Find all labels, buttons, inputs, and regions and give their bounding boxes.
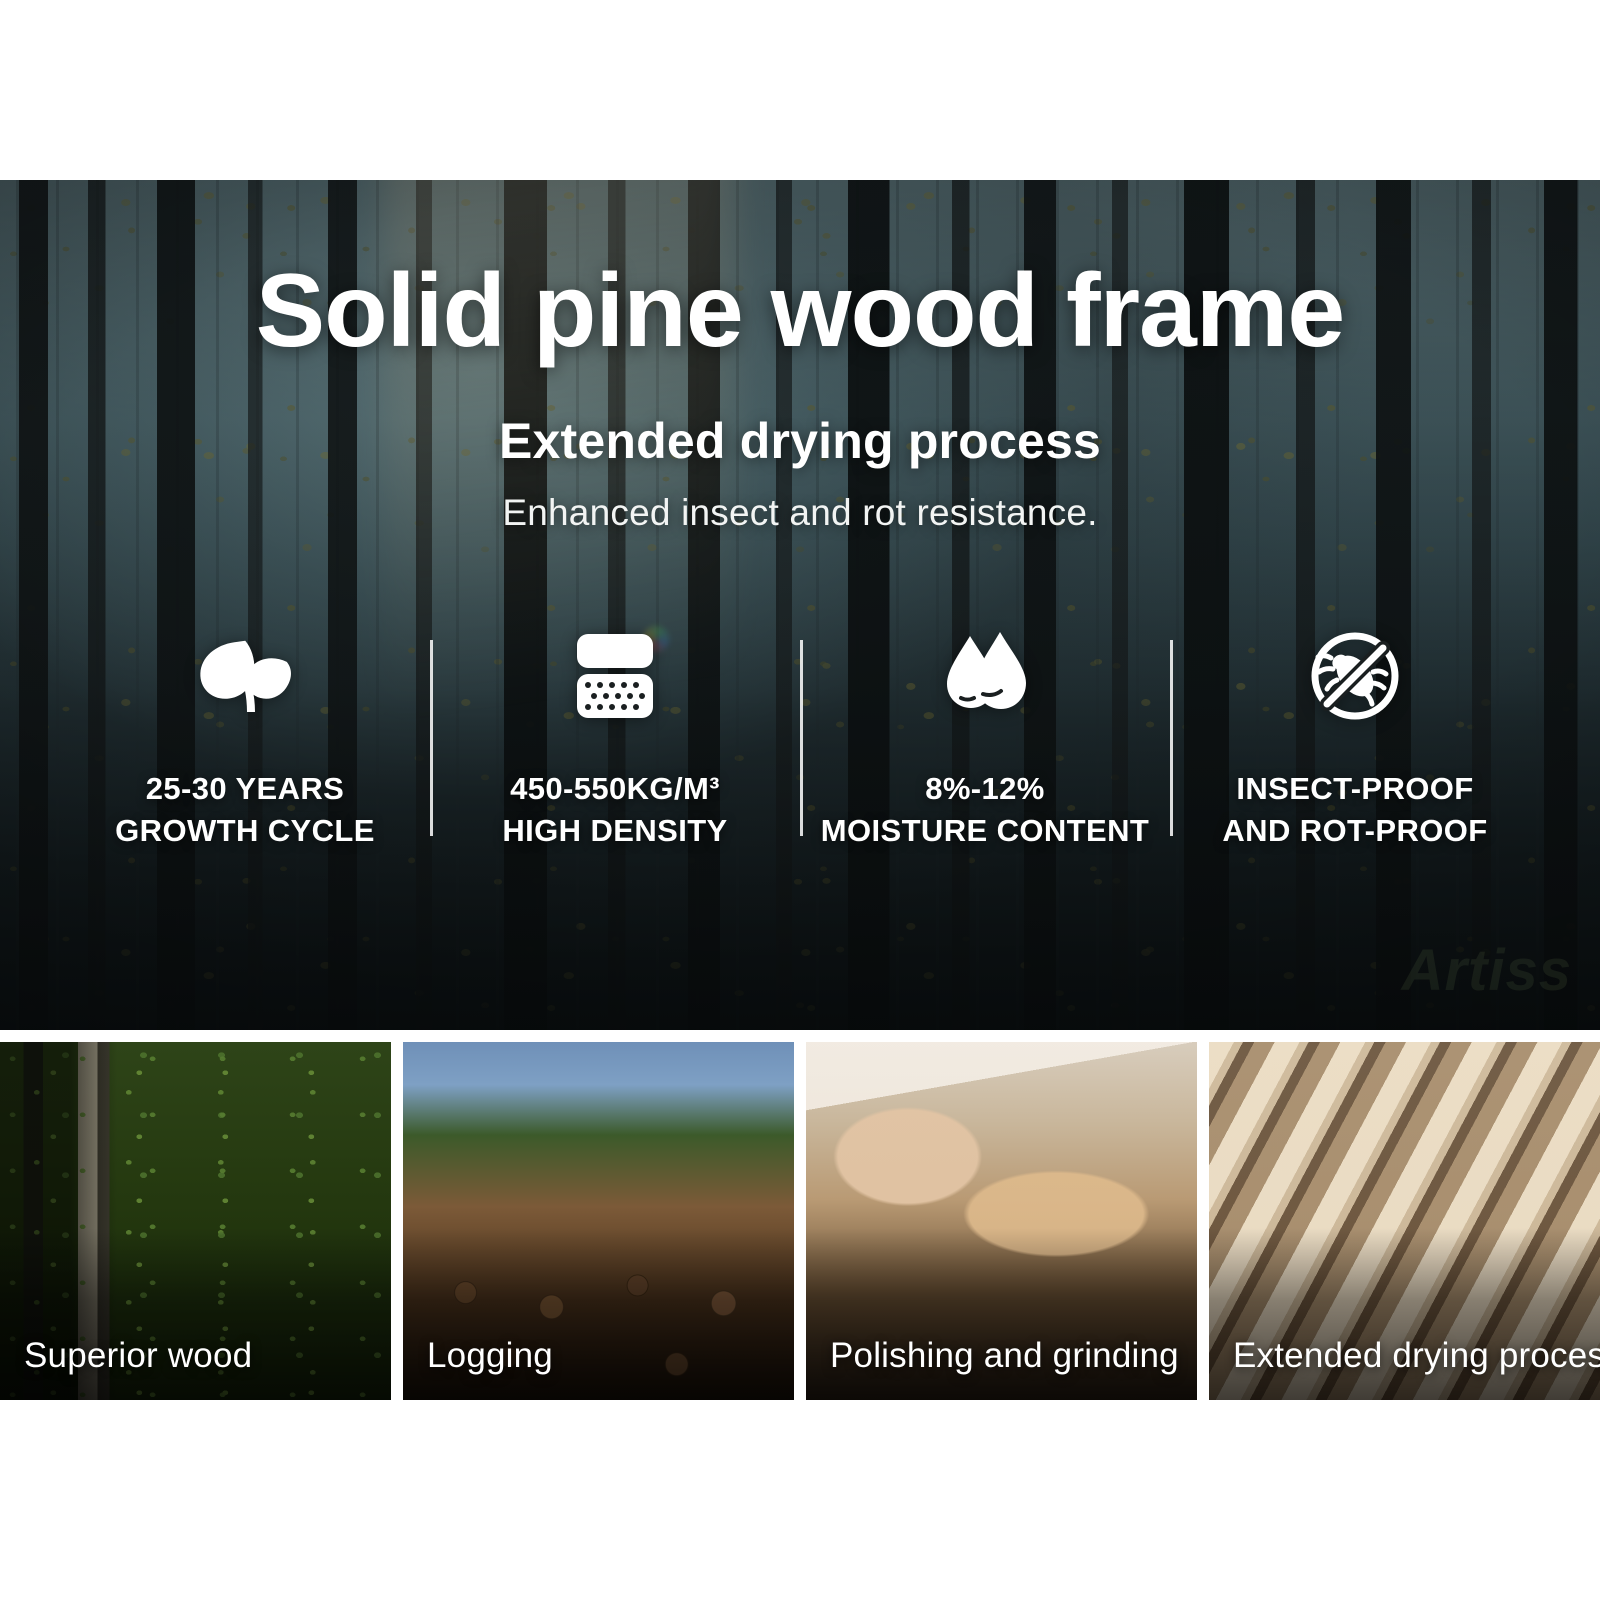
density-block-icon: [563, 628, 667, 724]
water-droplets-icon: [933, 628, 1037, 724]
process-photo-strip: Superior wood Logging Polishing and grin…: [0, 1042, 1600, 1400]
process-photo-superior-wood: Superior wood: [0, 1042, 391, 1400]
photo-caption: Polishing and grinding: [830, 1336, 1185, 1376]
leaf-sprout-icon: [193, 628, 297, 724]
hero-banner: Solid pine wood frame Extended drying pr…: [0, 180, 1600, 1030]
hero-tagline: Enhanced insect and rot resistance.: [0, 492, 1600, 534]
process-photo-logging: Logging: [403, 1042, 794, 1400]
feature-label: INSECT-PROOF AND ROT-PROOF: [1222, 768, 1487, 851]
page-title: Solid pine wood frame: [0, 258, 1600, 364]
hero-content: Solid pine wood frame Extended drying pr…: [0, 180, 1600, 1030]
feature-insect-rot-proof: INSECT-PROOF AND ROT-PROOF: [1170, 628, 1540, 851]
photo-caption: Extended drying process: [1233, 1336, 1588, 1376]
feature-label: 450-550KG/M³ HIGH DENSITY: [502, 768, 727, 851]
process-photo-polishing: Polishing and grinding: [806, 1042, 1197, 1400]
photo-caption: Logging: [427, 1336, 782, 1376]
no-insect-icon: [1303, 628, 1407, 724]
feature-list: 25-30 YEARS GROWTH CYCLE: [60, 628, 1540, 868]
feature-label: 8%-12% MOISTURE CONTENT: [821, 768, 1149, 851]
feature-growth-cycle: 25-30 YEARS GROWTH CYCLE: [60, 628, 430, 851]
hero-subtitle: Extended drying process: [0, 412, 1600, 470]
process-photo-drying: Extended drying process: [1209, 1042, 1600, 1400]
photo-caption: Superior wood: [24, 1336, 379, 1376]
feature-label: 25-30 YEARS GROWTH CYCLE: [115, 768, 375, 851]
brand-watermark: Artiss: [1402, 937, 1572, 1004]
feature-moisture-content: 8%-12% MOISTURE CONTENT: [800, 628, 1170, 851]
feature-high-density: 450-550KG/M³ HIGH DENSITY: [430, 628, 800, 851]
